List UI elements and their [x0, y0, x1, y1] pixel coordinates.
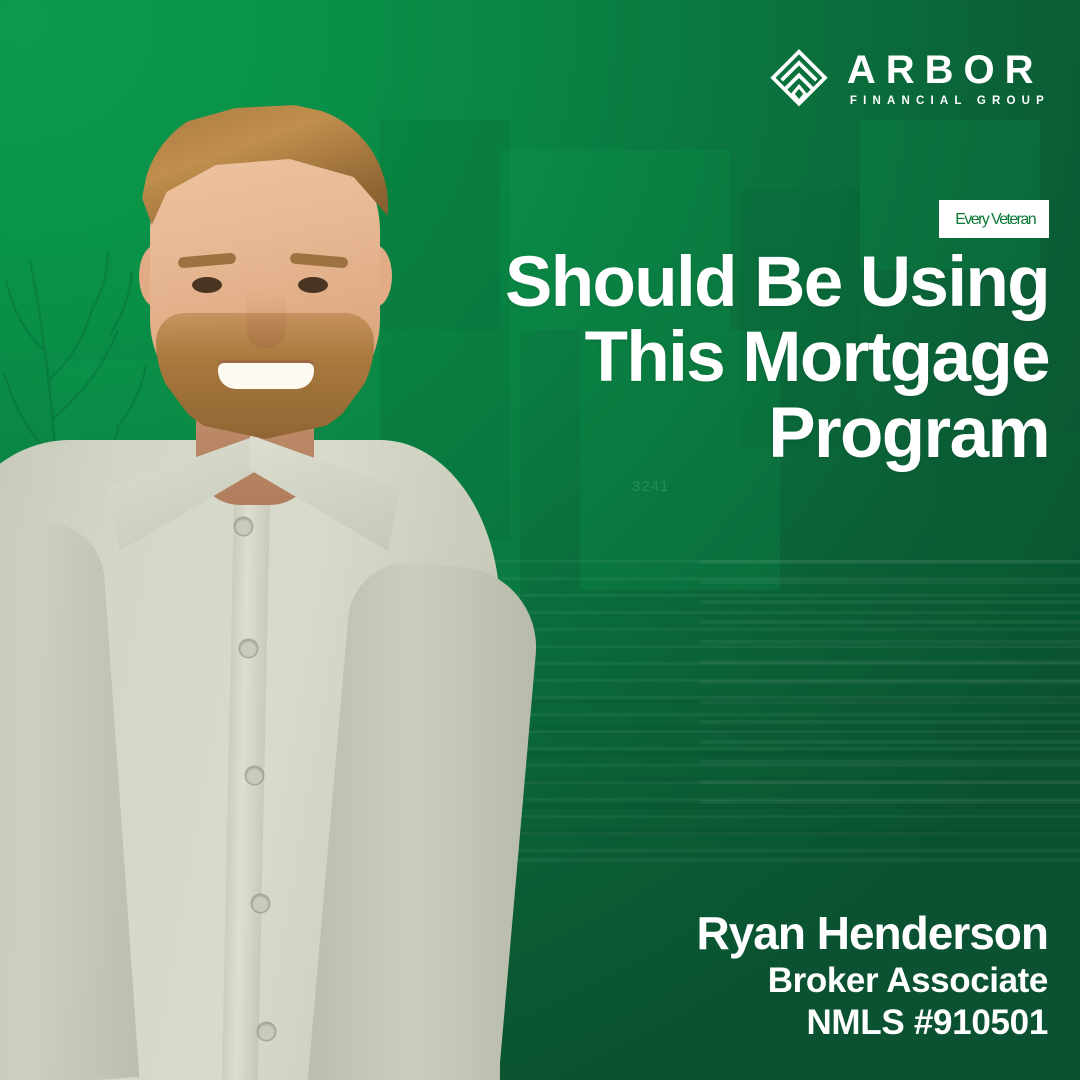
headline-line-4: Program [409, 396, 1049, 472]
shirt-button [246, 767, 263, 784]
smile-mouth [218, 363, 314, 389]
house-number-text: 3241 [632, 478, 669, 495]
brand-wordmark: ARBOR [847, 50, 1050, 91]
shirt-button [240, 640, 257, 657]
headline-block: Every Veteran Should Be Using This Mortg… [409, 200, 1049, 472]
brand-wordmark-block: ARBOR FINANCIAL GROUP [847, 50, 1050, 107]
agent-info-block: Ryan Henderson Broker Associate NMLS #91… [696, 908, 1048, 1044]
agent-title: Broker Associate [696, 960, 1048, 1002]
shirt-button [258, 1023, 275, 1040]
headline-line-1-wrap: Every Veteran [409, 200, 1049, 245]
headline-line-2: Should Be Using [409, 245, 1049, 321]
nose [246, 291, 286, 349]
brand-tagline: FINANCIAL GROUP [847, 96, 1050, 108]
eye-left [192, 277, 222, 293]
headline-line-3: This Mortgage [409, 320, 1049, 396]
eye-right [298, 277, 328, 293]
porch-edge-line [470, 858, 1080, 862]
brand-logo[interactable]: ARBOR FINANCIAL GROUP [768, 48, 1050, 110]
agent-nmls-number: NMLS #910501 [696, 1002, 1048, 1044]
agent-name: Ryan Henderson [696, 908, 1048, 960]
shirt-button [235, 518, 252, 535]
social-graphic-canvas: 3241 [0, 0, 1080, 1080]
arbor-diamond-chevron-icon [768, 48, 830, 110]
porch-steps [520, 700, 1080, 840]
shirt-button [252, 895, 269, 912]
headline-highlight-line: Every Veteran [939, 200, 1049, 238]
